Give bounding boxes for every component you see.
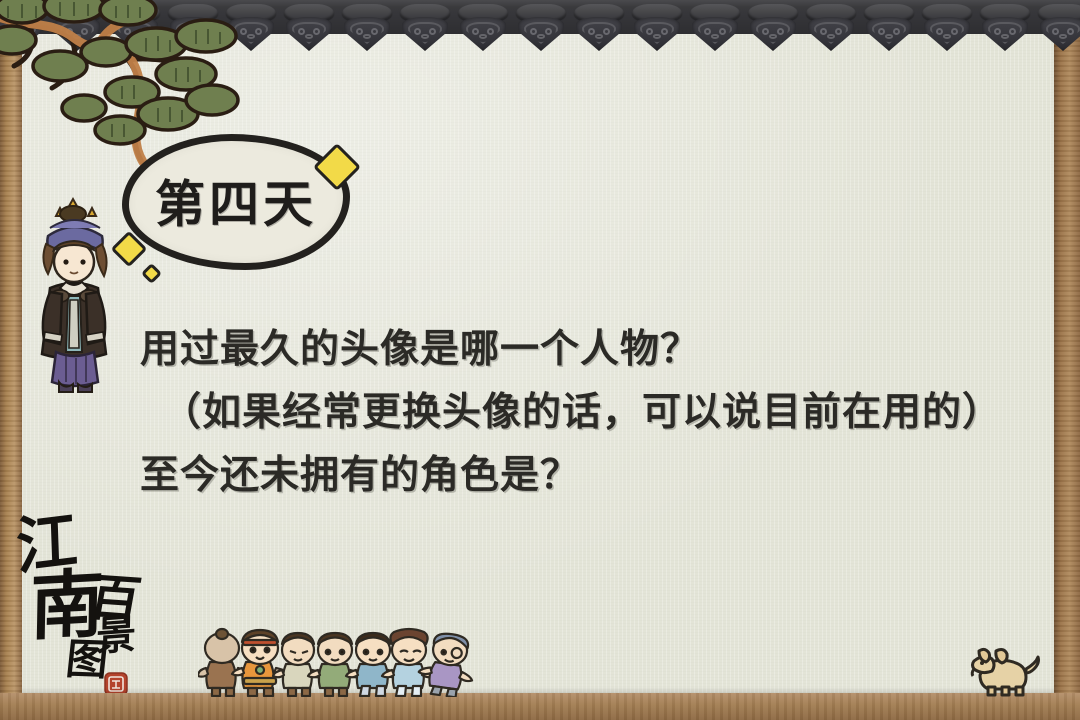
children-holding-hands (198, 622, 488, 697)
scene-root: 第四天 (0, 0, 1080, 720)
ground-shadow (22, 687, 1054, 693)
question-line-2: （如果经常更换头像的话，可以说目前在用的） (140, 381, 1020, 444)
sparkle-diamond-icon (141, 263, 162, 284)
question-line-1: 用过最久的头像是哪一个人物？ (140, 318, 1020, 381)
day-label: 第四天 (129, 165, 343, 237)
day-speech-bubble: 第四天 (108, 128, 373, 288)
logo-calligraphy: 江 南 百 景 图 (8, 512, 158, 682)
yellow-dog-icon (962, 645, 1042, 697)
question-line-3: 至今还未拥有的角色是？ (140, 444, 1020, 507)
game-logo: 江 南 百 景 图 (8, 512, 168, 702)
question-text-block: 用过最久的头像是哪一个人物？ （如果经常更换头像的话，可以说目前在用的） 至今还… (140, 318, 1020, 507)
bubble-body: 第四天 (122, 134, 350, 270)
frame-right-wood (1054, 0, 1080, 720)
logo-char-tu: 图 (64, 639, 110, 682)
